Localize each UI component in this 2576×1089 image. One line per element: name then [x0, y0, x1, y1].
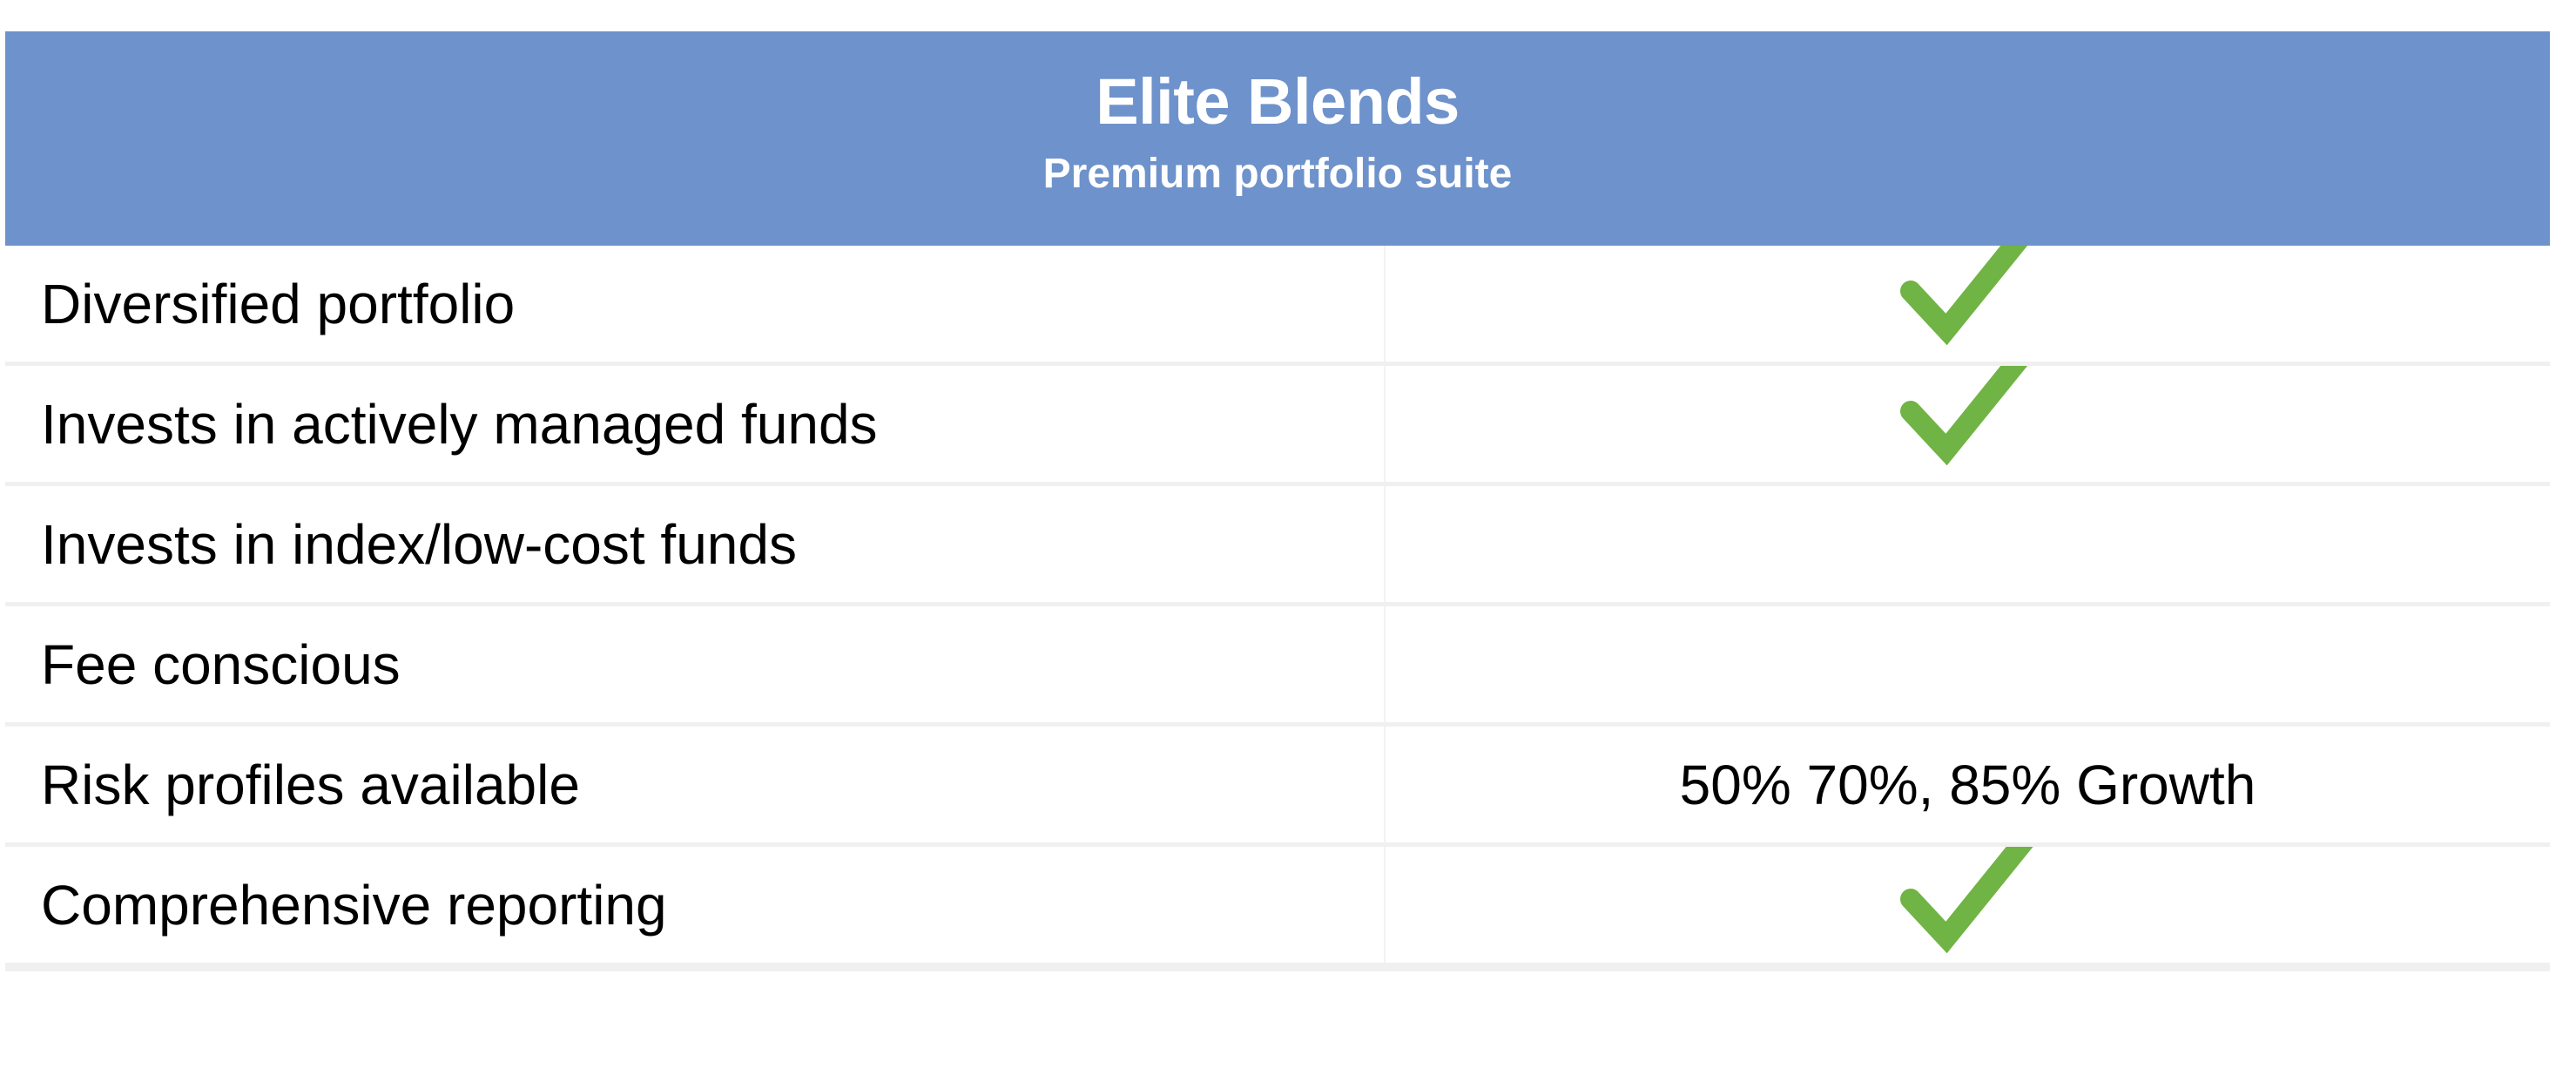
check-icon	[1898, 847, 2038, 962]
comparison-table-page: Elite Blends Premium portfolio suite Div…	[0, 0, 2576, 1089]
feature-label: Invests in index/low-cost funds	[5, 486, 1386, 602]
feature-value	[1386, 847, 2550, 963]
table-row: Invests in index/low-cost funds	[5, 486, 2550, 606]
feature-label: Invests in actively managed funds	[5, 366, 1386, 482]
check-icon	[1898, 366, 2038, 474]
table-subtitle: Premium portfolio suite	[1043, 153, 1513, 195]
table-body: Diversified portfolio Invests in activel…	[5, 246, 2550, 971]
feature-value: 50% 70%, 85% Growth	[1386, 727, 2550, 842]
table-row: Invests in actively managed funds	[5, 366, 2550, 486]
elite-blends-comparison-table: Elite Blends Premium portfolio suite Div…	[5, 31, 2550, 971]
table-title: Elite Blends	[1096, 70, 1460, 134]
feature-value	[1386, 246, 2550, 362]
feature-value	[1386, 606, 2550, 722]
feature-value	[1386, 486, 2550, 602]
feature-label: Diversified portfolio	[5, 246, 1386, 362]
feature-label: Risk profiles available	[5, 727, 1386, 842]
feature-label: Comprehensive reporting	[5, 847, 1386, 963]
feature-value	[1386, 366, 2550, 482]
table-row: Comprehensive reporting	[5, 847, 2550, 967]
feature-label: Fee conscious	[5, 606, 1386, 722]
table-row: Diversified portfolio	[5, 246, 2550, 366]
table-row: Risk profiles available 50% 70%, 85% Gro…	[5, 727, 2550, 847]
table-header-band: Elite Blends Premium portfolio suite	[5, 31, 2550, 246]
table-row: Fee conscious	[5, 606, 2550, 727]
check-icon	[1898, 246, 2038, 354]
